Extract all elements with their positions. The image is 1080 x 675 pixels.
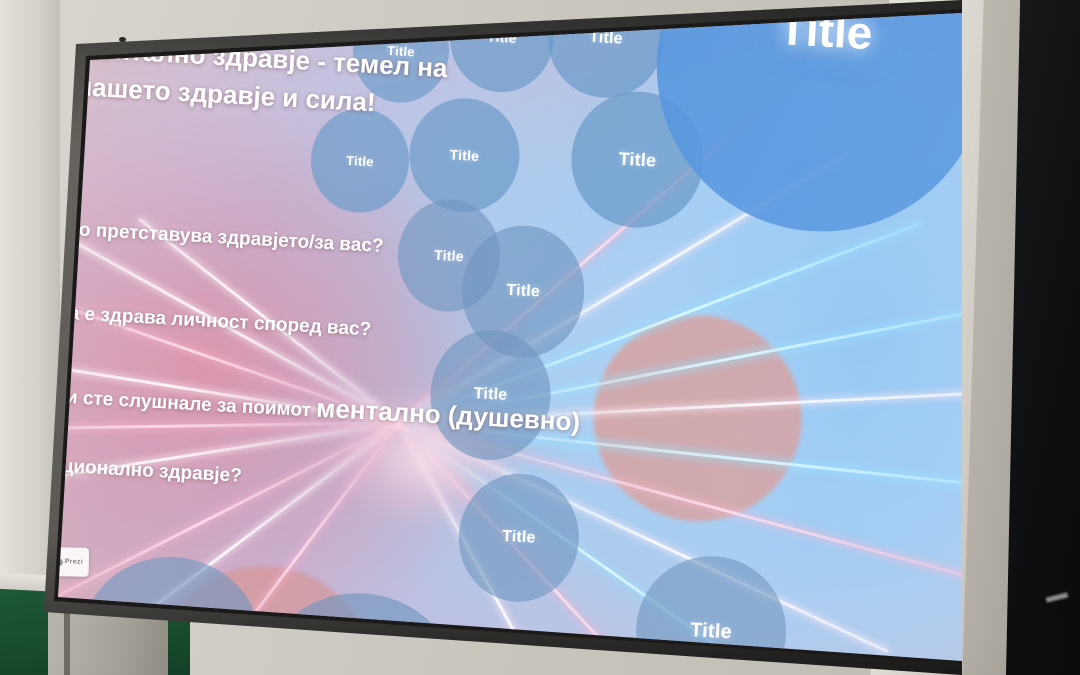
photo-scene: TitleTitleTitleTitleTitleTitleTitleTitle…: [0, 0, 1080, 675]
accent-blob-layer: [22, 0, 1000, 3]
question-3-lead: Дали сте слушнале за поимот: [29, 385, 311, 421]
display-screen[interactable]: TitleTitleTitleTitleTitleTitleTitleTitle…: [0, 0, 1000, 675]
camera-icon: [119, 37, 126, 42]
watermark-label: Prezi: [65, 558, 83, 565]
presentation-slide[interactable]: TitleTitleTitleTitleTitleTitleTitleTitle…: [0, 0, 1000, 675]
neon-beam-layer: [22, 0, 1000, 3]
title-bubble-layer: TitleTitleTitleTitleTitleTitleTitleTitle…: [22, 0, 1000, 3]
interactive-display[interactable]: TitleTitleTitleTitleTitleTitleTitleTitle…: [0, 0, 1080, 675]
